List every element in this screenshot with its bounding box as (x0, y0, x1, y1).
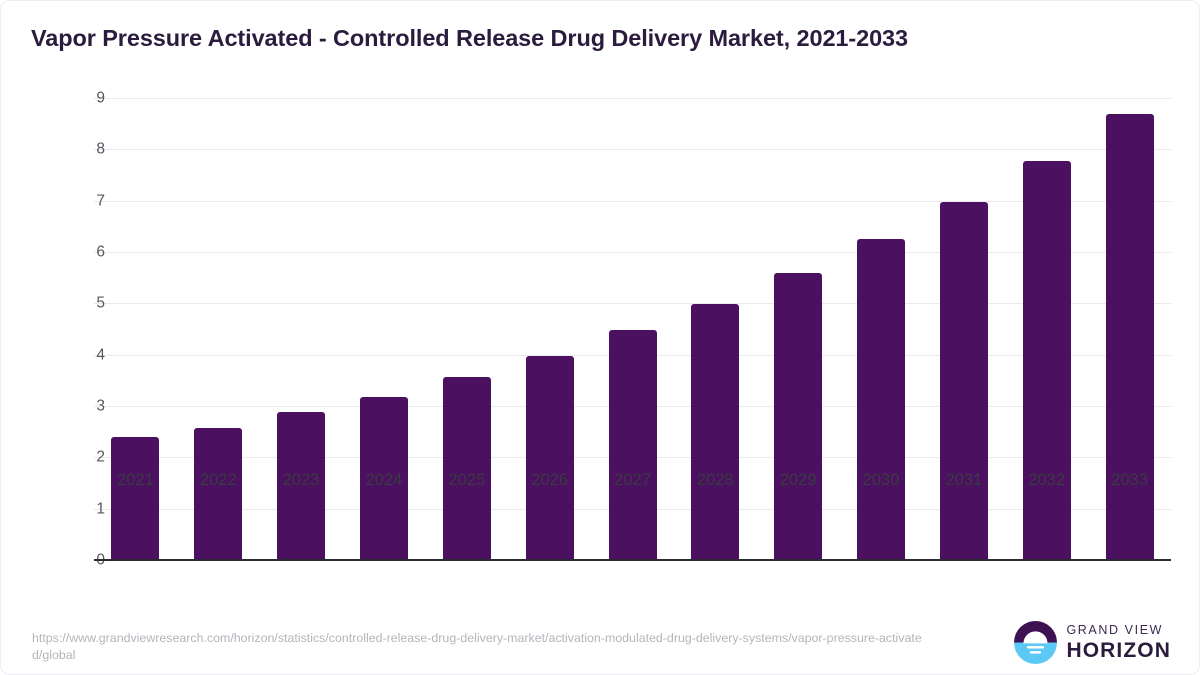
y-tick-label: 2 (65, 450, 105, 466)
x-tick-label-2024: 2024 (339, 471, 429, 490)
y-tick-label: 9 (65, 90, 105, 106)
gridline (94, 303, 1171, 304)
bar-2027[interactable] (609, 330, 657, 560)
gridline (94, 201, 1171, 202)
x-tick-label-2028: 2028 (670, 471, 760, 490)
y-tick-label: 1 (65, 501, 105, 517)
x-tick-label-2023: 2023 (256, 471, 346, 490)
logo-text: GRAND VIEW HORIZON (1066, 624, 1171, 662)
bar-2022[interactable] (194, 428, 242, 560)
page-title: Vapor Pressure Activated - Controlled Re… (31, 25, 1171, 52)
x-tick-label-2032: 2032 (1002, 471, 1092, 490)
x-axis-line (94, 559, 1171, 561)
bar-2030[interactable] (857, 239, 905, 560)
logo-line-horizon: HORIZON (1066, 640, 1171, 661)
x-tick-label-2025: 2025 (422, 471, 512, 490)
bar-2031[interactable] (940, 202, 988, 560)
gridline (94, 149, 1171, 150)
x-tick-label-2029: 2029 (753, 471, 843, 490)
logo-line-grand-view: GRAND VIEW (1066, 624, 1171, 637)
x-tick-label-2030: 2030 (836, 471, 926, 490)
bar-2021[interactable] (111, 437, 159, 560)
source-url[interactable]: https://www.grandviewresearch.com/horizo… (32, 630, 932, 664)
x-tick-label-2022: 2022 (173, 471, 263, 490)
x-tick-label-2026: 2026 (505, 471, 595, 490)
bar-2029[interactable] (774, 273, 822, 560)
bar-2026[interactable] (526, 356, 574, 560)
bar-2028[interactable] (691, 304, 739, 560)
gridline (94, 98, 1171, 99)
plot-area (94, 98, 1171, 560)
y-tick-label: 4 (65, 347, 105, 363)
brand-logo: GRAND VIEW HORIZON (1014, 621, 1171, 664)
x-tick-label-2031: 2031 (919, 471, 1009, 490)
horizon-logo-icon (1014, 621, 1057, 664)
bar-2025[interactable] (443, 377, 491, 560)
y-tick-label: 6 (65, 244, 105, 260)
y-tick-label: 8 (65, 142, 105, 158)
bar-2032[interactable] (1023, 161, 1071, 560)
chart-page: Vapor Pressure Activated - Controlled Re… (0, 0, 1200, 675)
x-tick-label-2033: 2033 (1085, 471, 1175, 490)
y-tick-label: 7 (65, 193, 105, 209)
x-tick-label-2027: 2027 (588, 471, 678, 490)
gridline (94, 252, 1171, 253)
bar-2033[interactable] (1106, 114, 1154, 560)
y-tick-label: 3 (65, 398, 105, 414)
y-tick-label: 5 (65, 296, 105, 312)
x-tick-label-2021: 2021 (90, 471, 180, 490)
